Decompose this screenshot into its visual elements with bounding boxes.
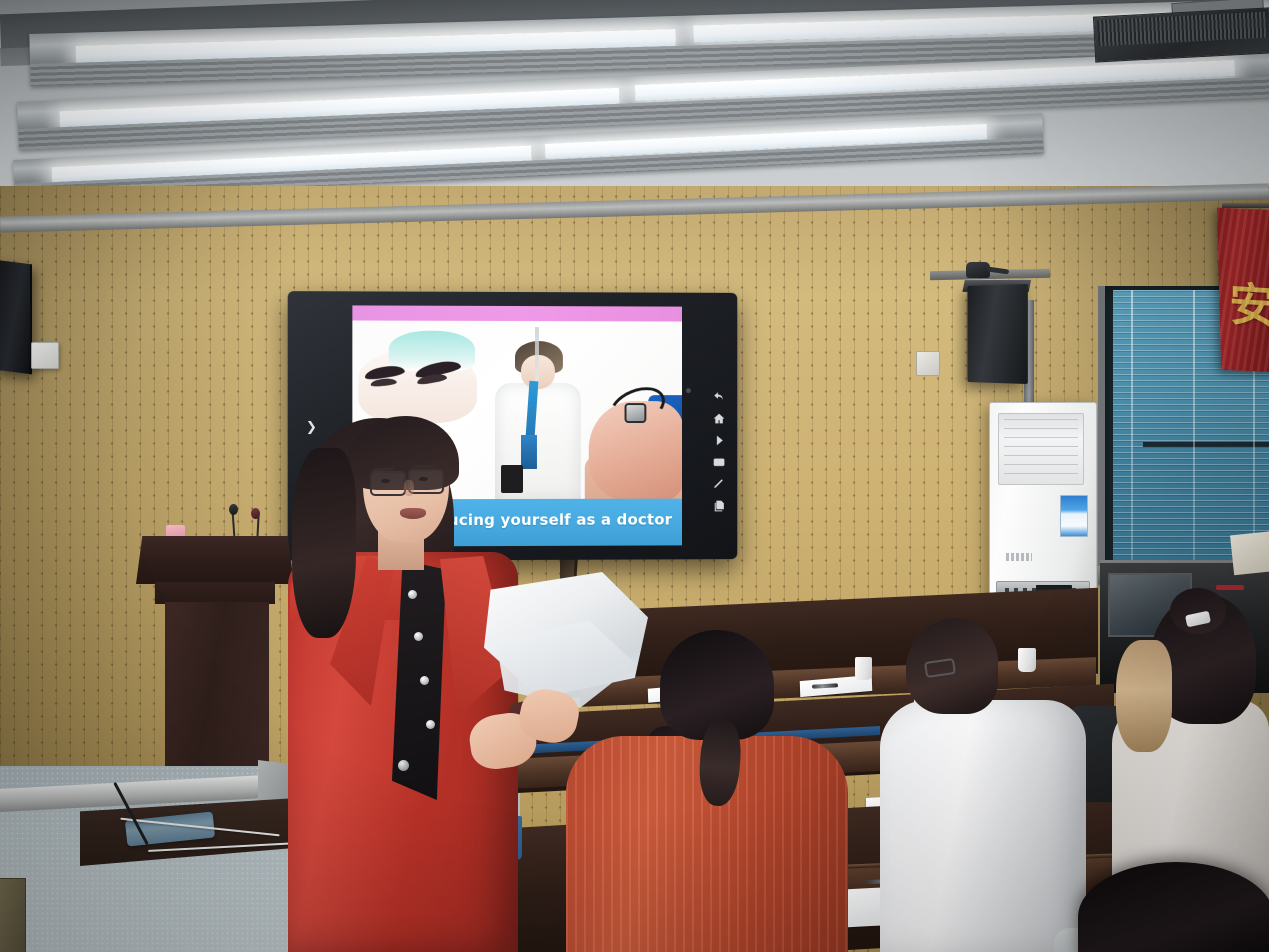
slide-photo-doctor [483, 325, 587, 499]
wall-plate-right[interactable] [916, 351, 940, 376]
banner-character: 安 [1229, 268, 1269, 337]
slide-caption-text: ducing yourself as a doctor [437, 511, 672, 530]
button [414, 632, 423, 641]
jacket-stud [398, 760, 409, 771]
microphone-head [229, 504, 238, 515]
button [420, 676, 429, 685]
slide-photo-clinician-eyes [358, 339, 469, 397]
lectern-top [136, 536, 294, 584]
desk-cup [1018, 648, 1036, 672]
copy-icon[interactable] [712, 500, 725, 513]
home-icon[interactable] [712, 412, 725, 425]
lecture-hall-photo: 安 [0, 0, 1269, 952]
blind-cord[interactable] [1131, 290, 1133, 586]
desk-cup [855, 657, 872, 680]
chevron-right-icon[interactable] [712, 434, 725, 447]
red-wall-banner: 安 [1217, 208, 1269, 373]
lectern-neck [155, 582, 275, 604]
ac-brand-mark [1006, 553, 1032, 561]
blind-gap [1143, 442, 1269, 447]
blind-cord[interactable] [1193, 290, 1195, 586]
button [408, 590, 417, 599]
display-ir-sensor [686, 388, 691, 393]
wall-plate-left[interactable] [31, 342, 59, 369]
ac-energy-label [1060, 495, 1088, 537]
chevron-right-icon[interactable]: ❯ [306, 420, 317, 435]
attendee-light-hair [1116, 640, 1172, 752]
undo-icon[interactable] [712, 390, 725, 403]
display-side-toolbar[interactable] [710, 390, 728, 512]
cabinet-paper [1230, 531, 1269, 576]
wall-speaker-right [967, 284, 1027, 384]
presenter-mouth [400, 508, 426, 519]
ac-air-outlet [998, 413, 1084, 485]
eyeglasses [370, 471, 406, 496]
screen-icon[interactable] [712, 456, 725, 469]
slide-photo-stethoscope-hand [352, 320, 682, 321]
equipment-indicator-light [1216, 585, 1244, 590]
button [426, 720, 435, 729]
floor-equipment-box [0, 878, 26, 952]
lectern-body [165, 602, 269, 770]
wall-speaker-left [0, 260, 32, 375]
pen-icon[interactable] [712, 478, 725, 491]
ceiling-projector [1093, 7, 1269, 62]
microphone-head [251, 508, 260, 519]
slide-top-band [352, 305, 682, 321]
